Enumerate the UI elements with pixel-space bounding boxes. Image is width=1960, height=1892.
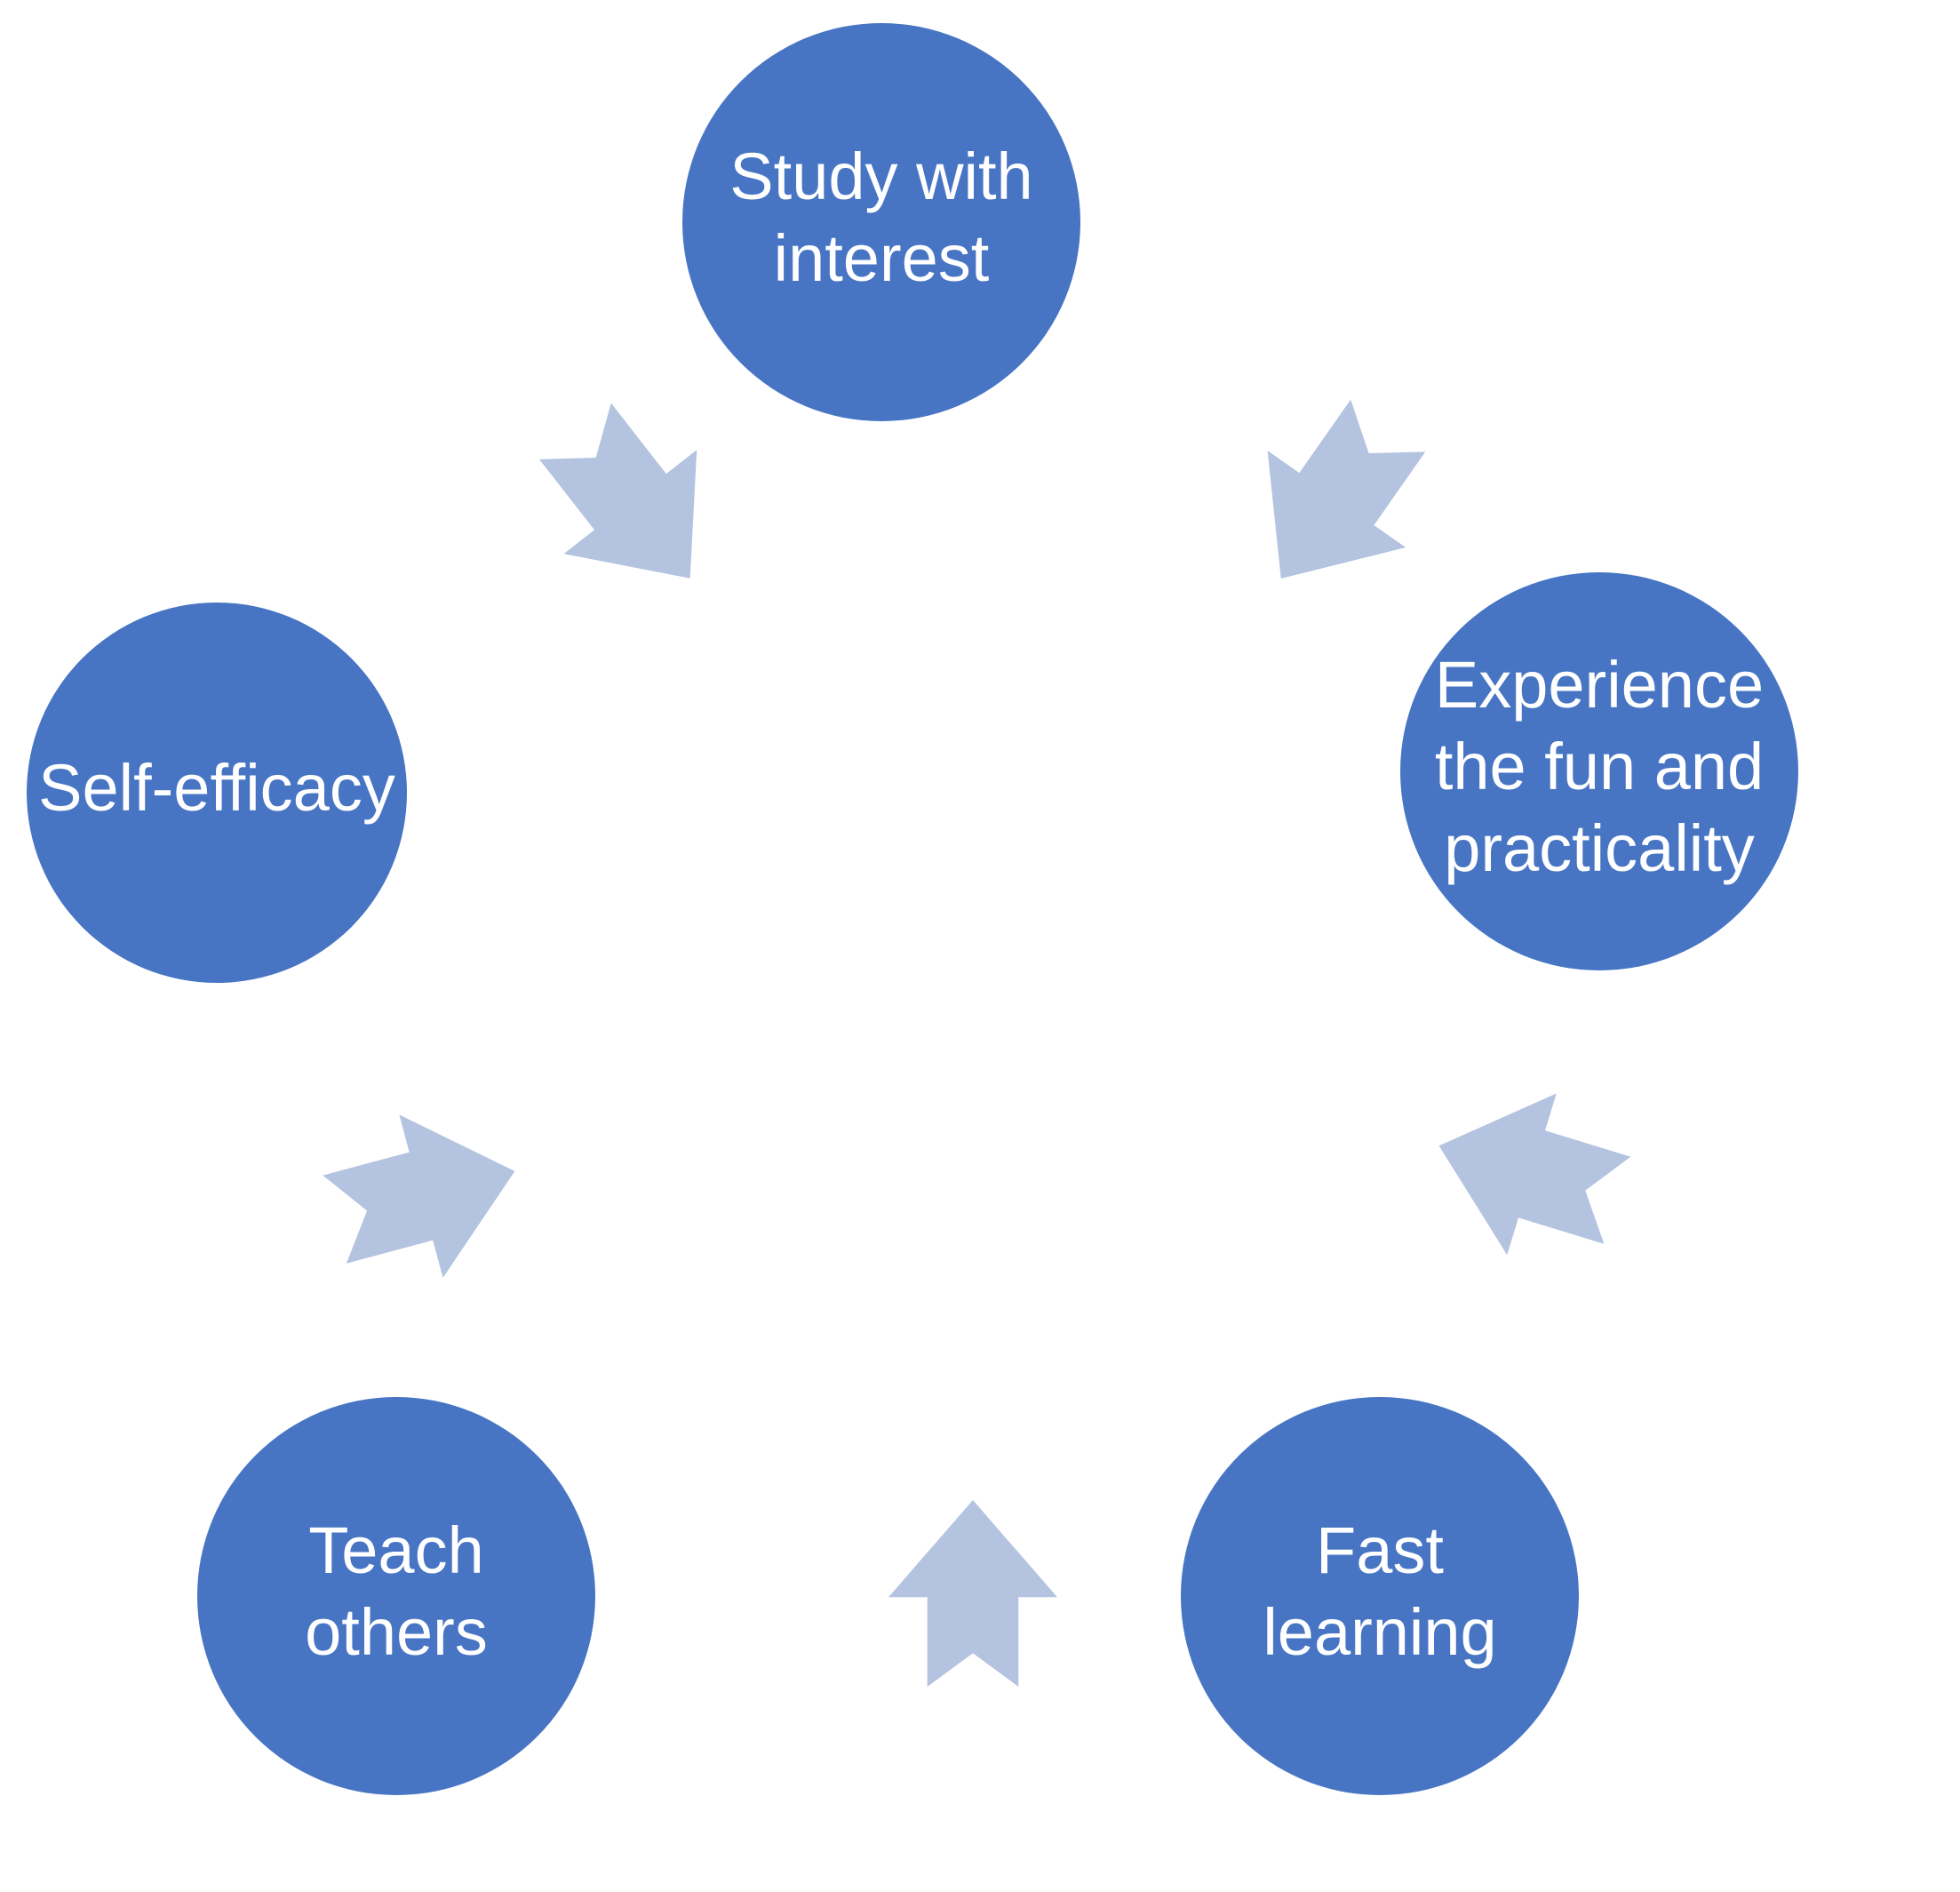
cycle-diagram-canvas: Study withinterest Experiencethe fun and… <box>0 0 1960 1892</box>
arrow-up-right-icon[interactable] <box>508 379 756 630</box>
arrow-down-right-icon[interactable] <box>1212 377 1457 627</box>
node-study-with-interest[interactable]: Study withinterest <box>682 23 1080 421</box>
arrow-teach-to-selfefficacy[interactable] <box>313 1090 537 1301</box>
arrow-fast-to-teach[interactable] <box>888 1500 1057 1687</box>
node-label-self-efficacy: Self-efficacy <box>38 751 395 825</box>
arrow-left-icon[interactable] <box>888 1500 1057 1687</box>
node-teach-others[interactable]: Teachothers <box>197 1397 595 1795</box>
arrow-down-left-icon[interactable] <box>1414 1065 1642 1281</box>
node-self-efficacy[interactable]: Self-efficacy <box>27 603 407 983</box>
arrow-up-icon[interactable] <box>313 1090 537 1301</box>
arrow-experience-to-fast[interactable] <box>1414 1065 1642 1281</box>
arrow-study-to-experience[interactable] <box>1212 377 1457 627</box>
node-fast-learning[interactable]: Fastlearning <box>1181 1397 1579 1795</box>
arrow-selfefficacy-to-study[interactable] <box>508 379 756 630</box>
node-experience-fun-practicality[interactable]: Experiencethe fun andpracticality <box>1400 572 1798 970</box>
cycle-diagram: Study withinterest Experiencethe fun and… <box>0 0 1960 1892</box>
node-label-experience-fun-practicality: Experiencethe fun andpracticality <box>1435 648 1764 885</box>
node-group: Study withinterest Experiencethe fun and… <box>27 23 1798 1795</box>
